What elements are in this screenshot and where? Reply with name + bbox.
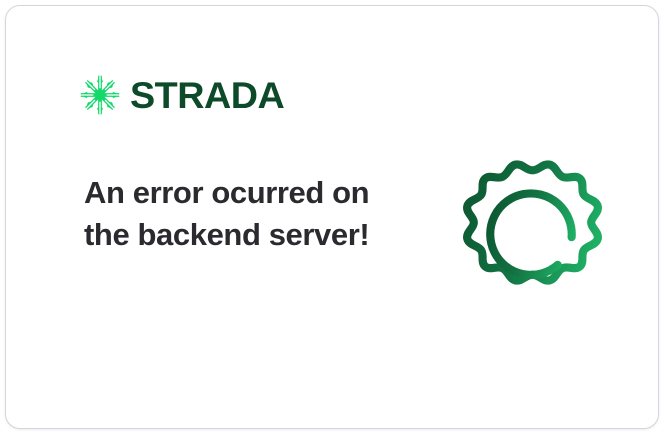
error-message: An error ocurred on the backend server! xyxy=(84,172,374,256)
error-card: STRADA An error ocurred on the backend s… xyxy=(5,5,659,429)
strada-asterisk-icon xyxy=(79,74,121,116)
brand-wordmark: STRADA xyxy=(130,77,284,114)
gear-cog-icon xyxy=(451,141,614,304)
brand-logo: STRADA xyxy=(79,74,281,116)
